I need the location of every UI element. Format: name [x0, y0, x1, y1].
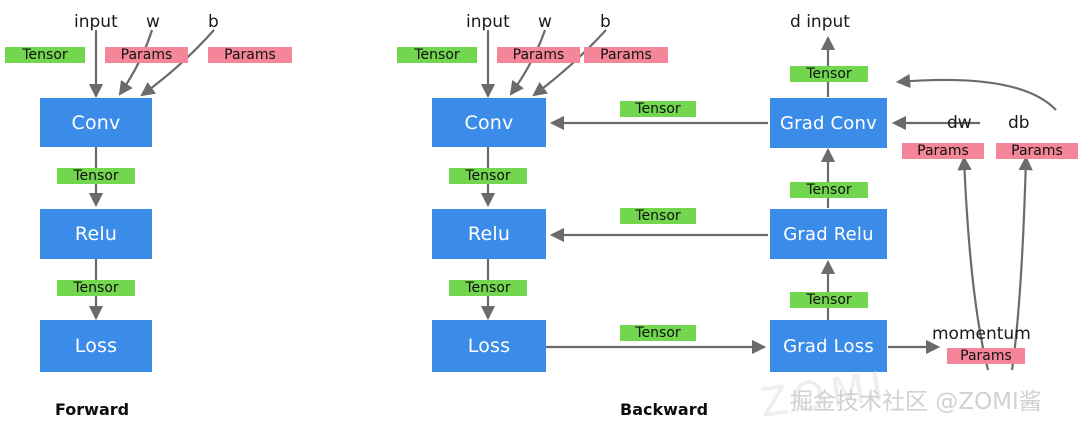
grad-node-conv[interactable]: Grad Conv	[770, 98, 887, 148]
cross-edge-badge-gradrelu-relu: Tensor	[620, 208, 696, 224]
d-input-badge-tensor: Tensor	[790, 66, 868, 82]
forward-node-conv[interactable]: Conv	[40, 98, 152, 147]
momentum-badge-params: Params	[947, 348, 1025, 364]
forward-node-relu[interactable]: Relu	[40, 209, 152, 259]
backward-input-badge-tensor: Tensor	[397, 47, 477, 63]
momentum-label: momentum	[932, 324, 1031, 344]
forward-b-label: b	[208, 12, 219, 32]
forward-node-loss[interactable]: Loss	[40, 320, 152, 372]
backward-w-badge-params: Params	[497, 47, 580, 63]
cross-edge-badge-gradconv-conv: Tensor	[620, 101, 696, 117]
watermark-text: 掘金技术社区 @ZOMI酱	[790, 382, 1042, 416]
db-label: db	[1008, 113, 1030, 133]
backward-node-relu[interactable]: Relu	[432, 209, 546, 259]
grad-edge-badge-loss-relu: Tensor	[790, 292, 868, 308]
dw-label: dw	[947, 113, 972, 133]
forward-edge-badge-relu-loss: Tensor	[57, 280, 135, 296]
forward-input-label: input	[74, 12, 118, 32]
backward-edge-badge-relu-loss: Tensor	[449, 280, 527, 296]
diagram-canvas: input w b Tensor Params Params Conv Relu…	[0, 0, 1080, 428]
backward-node-loss[interactable]: Loss	[432, 320, 546, 372]
backward-b-badge-params: Params	[584, 47, 668, 63]
grad-node-loss[interactable]: Grad Loss	[770, 320, 887, 372]
backward-w-label: w	[538, 12, 552, 32]
forward-caption: Forward	[55, 400, 129, 419]
grad-node-relu[interactable]: Grad Relu	[770, 209, 887, 259]
backward-b-label: b	[600, 12, 611, 32]
db-badge-params: Params	[996, 143, 1078, 159]
backward-caption: Backward	[620, 400, 708, 419]
grad-edge-badge-relu-conv: Tensor	[790, 182, 868, 198]
forward-w-badge-params: Params	[105, 47, 188, 63]
cross-edge-badge-loss-gradloss: Tensor	[620, 325, 696, 341]
arrow-db-to-gradconv	[898, 80, 1056, 110]
d-input-label: d input	[790, 12, 850, 32]
backward-edge-badge-conv-relu: Tensor	[449, 168, 527, 184]
forward-edge-badge-conv-relu: Tensor	[57, 168, 135, 184]
backward-node-conv[interactable]: Conv	[432, 98, 546, 147]
dw-badge-params: Params	[902, 143, 984, 159]
forward-input-badge-tensor: Tensor	[5, 47, 85, 63]
backward-input-label: input	[466, 12, 510, 32]
forward-w-label: w	[146, 12, 160, 32]
forward-b-badge-params: Params	[208, 47, 292, 63]
